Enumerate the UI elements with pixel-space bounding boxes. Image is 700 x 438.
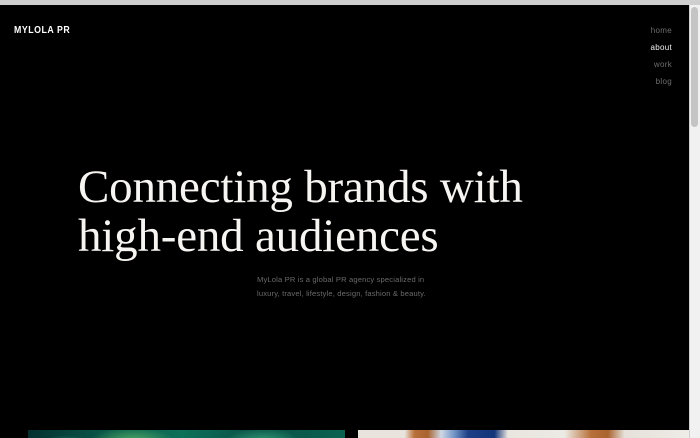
- nav-link-about[interactable]: about: [650, 44, 672, 52]
- browser-viewport: MYLOLA PR home about work blog Connectin…: [0, 0, 700, 438]
- nav-link-home[interactable]: home: [651, 27, 672, 35]
- nav-link-blog[interactable]: blog: [656, 78, 672, 86]
- hero-subtitle: MyLola PR is a global PR agency speciali…: [257, 273, 457, 301]
- vertical-scrollbar-thumb[interactable]: [691, 7, 698, 127]
- hero-subtitle-line-2: luxury, travel, lifestyle, design, fashi…: [257, 287, 457, 301]
- vertical-scrollbar[interactable]: [689, 5, 700, 438]
- portrait-photo-image[interactable]: [358, 430, 690, 438]
- hero-headline-line-2: high-end audiences: [78, 212, 523, 261]
- gallery-strip: [0, 430, 690, 438]
- emerald-abstract-image[interactable]: [28, 430, 345, 438]
- page-canvas: MYLOLA PR home about work blog Connectin…: [0, 5, 690, 438]
- hero-subtitle-line-1: MyLola PR is a global PR agency speciali…: [257, 273, 457, 287]
- hero-headline: Connecting brands with high-end audience…: [78, 163, 523, 261]
- hero-headline-line-1: Connecting brands with: [78, 163, 523, 212]
- brand-logo[interactable]: MYLOLA PR: [14, 25, 70, 36]
- nav-link-work[interactable]: work: [654, 61, 672, 69]
- site-header: MYLOLA PR home about work blog: [0, 5, 690, 115]
- main-navigation: home about work blog: [650, 27, 672, 86]
